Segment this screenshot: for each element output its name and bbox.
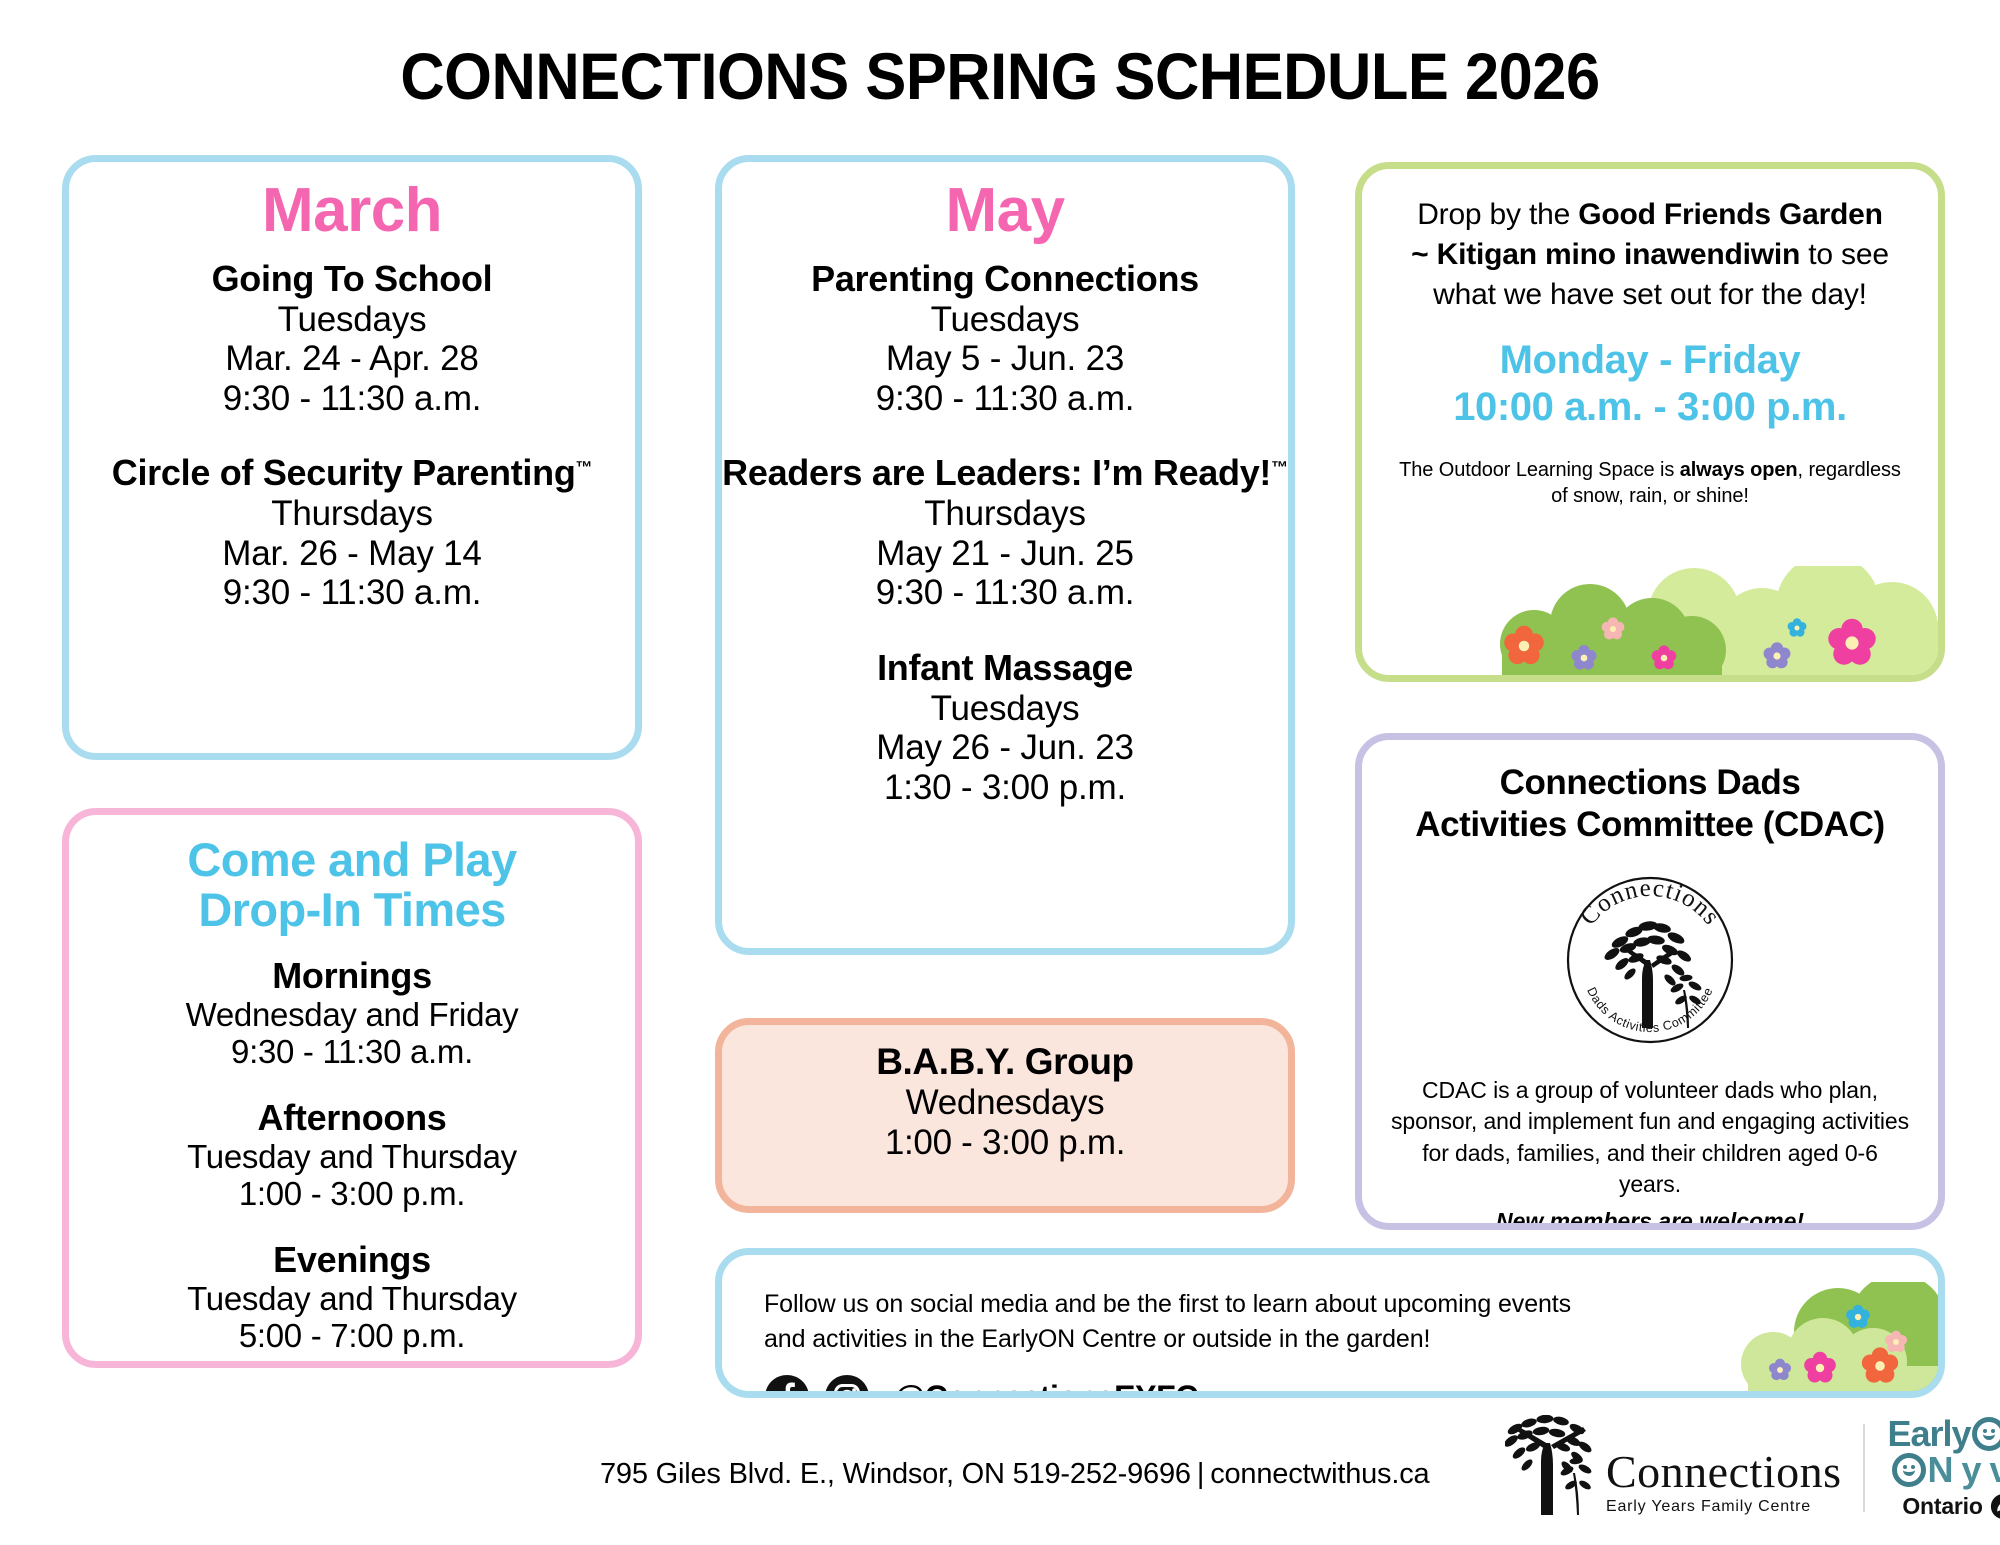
social-description-line2: and activities in the EarlyON Centre or …	[764, 1322, 1938, 1357]
slot-days: Wednesday and Friday	[69, 996, 635, 1033]
program-dates: Mar. 24 - Apr. 28	[69, 339, 635, 379]
ontario-wordmark: Ontario	[1902, 1493, 1982, 1520]
baby-group-content: B.A.B.Y. Group Wednesdays 1:00 - 3:00 p.…	[722, 1025, 1288, 1163]
program-title-text: Circle of Security Parenting	[112, 452, 576, 493]
social-description: Follow us on social media and be the fir…	[764, 1287, 1938, 1356]
facebook-icon[interactable]	[764, 1374, 810, 1398]
page-title: CONNECTIONS SPRING SCHEDULE 2026	[70, 38, 1930, 114]
cdac-welcome-note: New members are welcome!	[1390, 1208, 1910, 1230]
footer-separator: |	[1191, 1458, 1210, 1490]
program-title: Readers are Leaders: I’m Ready!™	[722, 452, 1288, 494]
garden-hours-days: Monday - Friday	[1396, 337, 1904, 384]
slot-time: 9:30 - 11:30 a.m.	[69, 1033, 635, 1070]
earlyon-onyva-text: N y va	[1927, 1452, 2000, 1488]
cdac-title-line1: Connections Dads	[1390, 762, 1910, 804]
garden-note-emphasis: always open	[1680, 459, 1798, 481]
cdac-description: CDAC is a group of volunteer dads who pl…	[1390, 1075, 1910, 1200]
program-dates: May 21 - Jun. 25	[722, 534, 1288, 574]
instagram-icon[interactable]	[824, 1374, 870, 1398]
program-title: Parenting Connections	[722, 258, 1288, 300]
connections-logo-text: Connections Early Years Family Centre	[1606, 1449, 1841, 1516]
program-parenting-connections: Parenting Connections Tuesdays May 5 - J…	[722, 258, 1288, 418]
garden-note: The Outdoor Learning Space is always ope…	[1396, 457, 1904, 509]
slot-days: Tuesday and Thursday	[69, 1280, 635, 1317]
program-time: 9:30 - 11:30 a.m.	[722, 379, 1288, 419]
cdac-title: Connections Dads Activities Committee (C…	[1390, 762, 1910, 846]
slot-time: 5:00 - 7:00 p.m.	[69, 1317, 635, 1354]
program-title: Circle of Security Parenting™	[69, 452, 635, 494]
social-handle[interactable]: @ConnectionsEYFC	[894, 1379, 1198, 1399]
baby-group-day: Wednesdays	[722, 1083, 1288, 1123]
program-day: Tuesdays	[722, 689, 1288, 729]
slot-name: Afternoons	[69, 1097, 635, 1138]
social-content: Follow us on social media and be the fir…	[722, 1255, 1938, 1398]
program-dates: Mar. 26 - May 14	[69, 534, 635, 574]
garden-intro: Drop by the Good Friends Garden ~ Kitiga…	[1396, 195, 1904, 315]
program-title-text: Infant Massage	[877, 647, 1133, 688]
footer-logo-divider	[1863, 1424, 1865, 1512]
smiley-face-icon	[1892, 1453, 1926, 1487]
card-may: May Parenting Connections Tuesdays May 5…	[715, 155, 1295, 955]
slot-time: 1:00 - 3:00 p.m.	[69, 1175, 635, 1212]
cdac-content: Connections Dads Activities Committee (C…	[1362, 740, 1938, 1230]
may-month-heading: May	[722, 180, 1288, 242]
smiley-face-icon	[1972, 1417, 2000, 1451]
card-social-media: Follow us on social media and be the fir…	[715, 1248, 1945, 1398]
come-and-play-heading-line2: Drop-In Times	[69, 885, 635, 935]
baby-group-title: B.A.B.Y. Group	[722, 1041, 1288, 1083]
ontario-logo: Ontario	[1887, 1493, 2000, 1520]
program-day: Thursdays	[69, 494, 635, 534]
program-going-to-school: Going To School Tuesdays Mar. 24 - Apr. …	[69, 258, 635, 418]
dropin-slot-afternoons: Afternoons Tuesday and Thursday 1:00 - 3…	[69, 1097, 635, 1213]
cdac-tree-logo: Connections Dads Activities Committee	[1550, 860, 1750, 1060]
program-day: Thursdays	[722, 494, 1288, 534]
program-title-text: Parenting Connections	[811, 258, 1199, 299]
program-title: Going To School	[69, 258, 635, 300]
card-cdac: Connections Dads Activities Committee (C…	[1355, 733, 1945, 1230]
trademark-symbol: ™	[1271, 458, 1288, 477]
card-come-and-play: Come and Play Drop-In Times Mornings Wed…	[62, 808, 642, 1368]
program-dates: May 26 - Jun. 23	[722, 728, 1288, 768]
program-time: 9:30 - 11:30 a.m.	[69, 379, 635, 419]
trillium-icon	[1990, 1493, 2000, 1520]
program-time: 9:30 - 11:30 a.m.	[69, 573, 635, 613]
social-description-line1: Follow us on social media and be the fir…	[764, 1287, 1938, 1322]
earlyon-line1: Early N	[1887, 1416, 2000, 1452]
program-title: Infant Massage	[722, 647, 1288, 689]
footer-logos: Connections Early Years Family Centre Ea…	[1505, 1415, 2000, 1520]
connections-logo: Connections Early Years Family Centre	[1505, 1415, 1841, 1520]
footer-website[interactable]: connectwithus.ca	[1210, 1458, 1429, 1490]
connections-tree-icon	[1505, 1415, 1600, 1520]
garden-hours-time: 10:00 a.m. - 3:00 p.m.	[1396, 384, 1904, 431]
program-readers-are-leaders: Readers are Leaders: I’m Ready!™ Thursda…	[722, 452, 1288, 612]
garden-hours: Monday - Friday 10:00 a.m. - 3:00 p.m.	[1396, 337, 1904, 431]
come-and-play-heading-line1: Come and Play	[69, 835, 635, 885]
garden-note-a: The Outdoor Learning Space is	[1399, 459, 1680, 481]
card-march: March Going To School Tuesdays Mar. 24 -…	[62, 155, 642, 760]
garden-bushes-illustration	[1362, 566, 1938, 676]
garden-intro-a: Drop by the	[1417, 198, 1578, 231]
program-day: Tuesdays	[69, 300, 635, 340]
program-time: 9:30 - 11:30 a.m.	[722, 573, 1288, 613]
trademark-symbol: ™	[576, 458, 593, 477]
program-infant-massage: Infant Massage Tuesdays May 26 - Jun. 23…	[722, 647, 1288, 807]
dropin-slot-mornings: Mornings Wednesday and Friday 9:30 - 11:…	[69, 955, 635, 1071]
poster-page: CONNECTIONS SPRING SCHEDULE 2026 March G…	[0, 0, 2000, 1545]
program-circle-of-security-parenting: Circle of Security Parenting™ Thursdays …	[69, 452, 635, 612]
cdac-title-line2: Activities Committee (CDAC)	[1390, 804, 1910, 846]
program-title-text: Readers are Leaders: I’m Ready!	[722, 452, 1271, 493]
footer-address-line: 795 Giles Blvd. E., Windsor, ON 519-252-…	[600, 1458, 1429, 1491]
program-time: 1:30 - 3:00 p.m.	[722, 768, 1288, 808]
dropin-slot-evenings: Evenings Tuesday and Thursday 5:00 - 7:0…	[69, 1239, 635, 1355]
baby-group-time: 1:00 - 3:00 p.m.	[722, 1123, 1288, 1163]
slot-name: Mornings	[69, 955, 635, 996]
garden-content: Drop by the Good Friends Garden ~ Kitiga…	[1362, 169, 1938, 509]
garden-name-english: Good Friends Garden	[1578, 198, 1883, 231]
card-baby-group: B.A.B.Y. Group Wednesdays 1:00 - 3:00 p.…	[715, 1018, 1295, 1213]
earlyon-line2: N y va	[1887, 1452, 2000, 1488]
connections-wordmark: Connections	[1606, 1449, 1841, 1495]
garden-name-ojibwe: ~ Kitigan mino inawendiwin	[1411, 238, 1800, 271]
connections-tagline: Early Years Family Centre	[1606, 1498, 1841, 1516]
card-good-friends-garden: Drop by the Good Friends Garden ~ Kitiga…	[1355, 162, 1945, 682]
earlyon-logo: Early N N y va Ontario	[1887, 1416, 2000, 1520]
slot-days: Tuesday and Thursday	[69, 1138, 635, 1175]
program-title-text: Going To School	[212, 258, 493, 299]
march-month-heading: March	[69, 180, 635, 242]
earlyon-early-text: Early	[1887, 1416, 1970, 1452]
slot-name: Evenings	[69, 1239, 635, 1280]
program-day: Tuesdays	[722, 300, 1288, 340]
footer-address: 795 Giles Blvd. E., Windsor, ON 519-252-…	[600, 1458, 1191, 1490]
social-handles-row: @ConnectionsEYFC	[764, 1374, 1938, 1398]
come-and-play-heading: Come and Play Drop-In Times	[69, 835, 635, 935]
program-dates: May 5 - Jun. 23	[722, 339, 1288, 379]
